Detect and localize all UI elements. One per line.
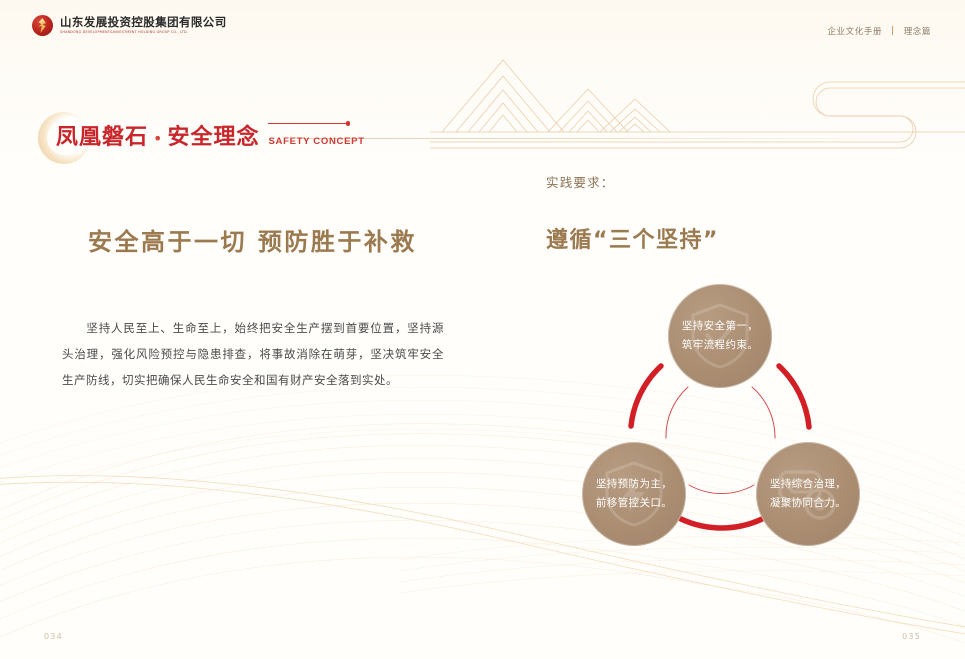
diagram-node-top-line1: 坚持安全第一， (682, 317, 758, 336)
company-logo[interactable]: 山东发展投资控股集团有限公司 SHANDONG DEVELOPMENT&INVE… (32, 15, 227, 36)
section-title-text: 凤凰磐石 • 安全理念 SAFETY CONCEPT (38, 127, 365, 149)
breadcrumb-section: 理念篇 (904, 25, 931, 37)
diagram-node-bottom-left-line1: 坚持预防为主， (596, 475, 672, 494)
three-persistences-diagram: 坚持安全第一， 筑牢流程约束。 坚持预防为主， 前移管控关口。 坚持综合治理， … (540, 270, 900, 560)
logo-text-block: 山东发展投资控股集团有限公司 SHANDONG DEVELOPMENT&INVE… (60, 17, 227, 34)
practice-requirement-heading: 遵循“三个坚持” (546, 222, 719, 254)
practice-requirement-label: 实践要求： (546, 172, 615, 191)
section-title-en: SAFETY CONCEPT (268, 136, 364, 147)
concept-paragraph: 坚持人民至上、生命至上，始终把安全生产摆到首要位置，坚持源头治理，强化风险预控与… (62, 316, 444, 394)
diagram-node-top-line2: 筑牢流程约束。 (682, 336, 758, 355)
logo-company-name-cn: 山东发展投资控股集团有限公司 (60, 17, 227, 29)
section-title-block: 凤凰磐石 • 安全理念 SAFETY CONCEPT (38, 110, 365, 166)
diagram-node-bottom-right-line1: 坚持综合治理， (770, 475, 846, 494)
section-title-underline-decoration (268, 123, 346, 124)
page-canvas: 山东发展投资控股集团有限公司 SHANDONG DEVELOPMENT&INVE… (0, 0, 965, 659)
diagram-node-bottom-left[interactable]: 坚持预防为主， 前移管控关口。 (582, 442, 686, 546)
section-title-en-wrap: SAFETY CONCEPT (268, 129, 364, 149)
diagram-node-bottom-right-line2: 凝聚协同合力。 (770, 494, 846, 513)
diagram-node-bottom-left-line2: 前移管控关口。 (596, 494, 672, 513)
page-number-right: 035 (902, 632, 921, 641)
concept-paragraph-text: 坚持人民至上、生命至上，始终把安全生产摆到首要位置，坚持源头治理，强化风险预控与… (62, 321, 444, 387)
breadcrumb-separator: | (891, 26, 895, 36)
page-number-left: 034 (44, 632, 63, 641)
page-header: 山东发展投资控股集团有限公司 SHANDONG DEVELOPMENT&INVE… (0, 0, 965, 52)
logo-company-name-en: SHANDONG DEVELOPMENT&INVESTMENT HOLDING … (60, 31, 227, 34)
diagram-node-bottom-right[interactable]: 坚持综合治理， 凝聚协同合力。 (756, 442, 860, 546)
section-title-primary: 凤凰磐石 (56, 127, 148, 149)
breadcrumb-manual-title: 企业文化手册 (827, 25, 882, 37)
section-title-secondary: 安全理念 (167, 127, 259, 149)
section-title-dot: • (153, 131, 162, 147)
flame-logo-icon (32, 15, 53, 36)
concept-heading: 安全高于一切 预防胜于补救 (88, 222, 417, 257)
diagram-node-top[interactable]: 坚持安全第一， 筑牢流程约束。 (668, 284, 772, 388)
header-breadcrumb: 企业文化手册 | 理念篇 (827, 25, 931, 37)
mountain-ribbon-ornament (430, 52, 965, 157)
section-title-divider-rule (300, 138, 948, 139)
